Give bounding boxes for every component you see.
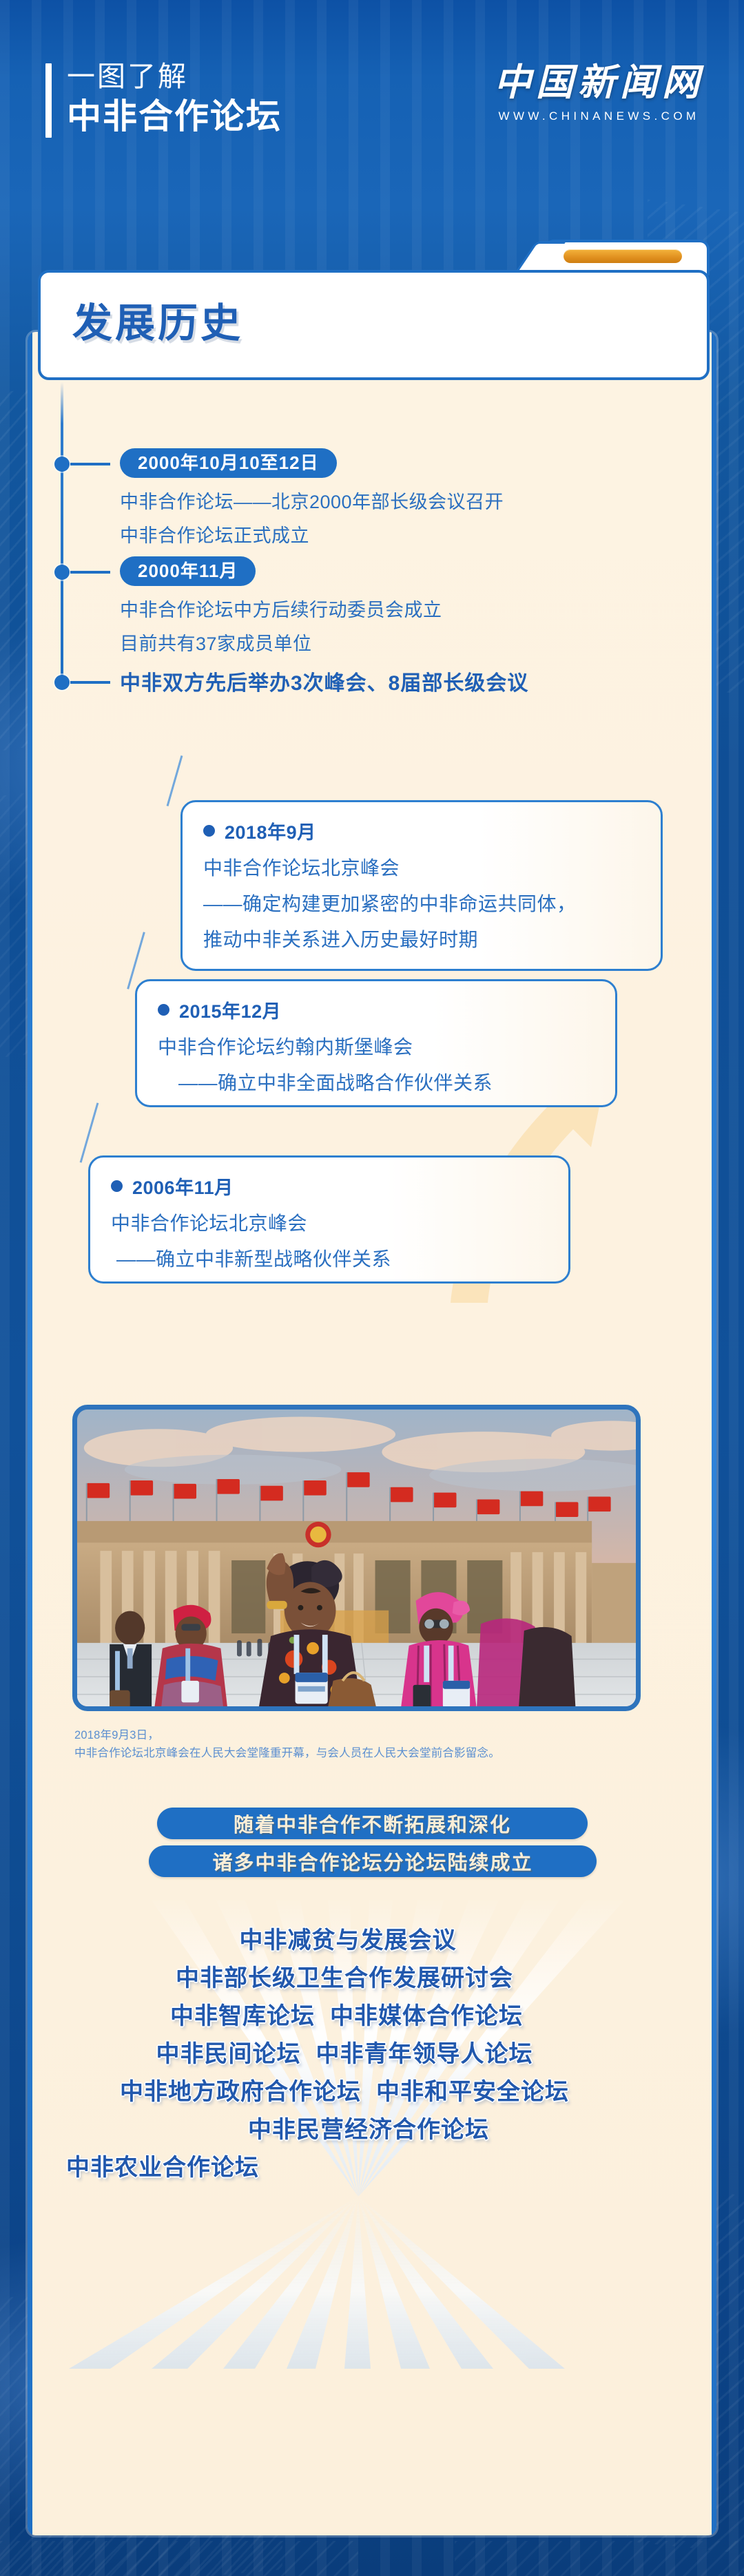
forum-name: 中非地方政府合作论坛	[120, 2073, 361, 2106]
section-title-card: 发展历史	[38, 270, 710, 380]
timeline-node	[54, 457, 70, 472]
forum-name: 中非民间论坛	[156, 2035, 301, 2069]
header-title-group: 一图了解 中非合作论坛	[45, 61, 282, 138]
summit-text: ——确立中非全面战略合作伙伴关系	[178, 1071, 615, 1095]
banner-2: 诸多中非合作论坛分论坛陆续成立	[149, 1845, 597, 1877]
summit-text: 中非合作论坛北京峰会	[111, 1212, 568, 1235]
summit-card-2006: 2006年11月 中非合作论坛北京峰会 ——确立中非新型战略伙伴关系	[88, 1155, 570, 1284]
summit-card-2015: 2015年12月 中非合作论坛约翰内斯堡峰会 ——确立中非全面战略合作伙伴关系	[135, 979, 617, 1107]
summit-date: 2015年12月	[179, 996, 281, 1023]
summit-text: ——确立中非新型战略伙伴关系	[116, 1248, 568, 1271]
timeline-connector	[70, 571, 110, 574]
summit-date: 2018年9月	[225, 817, 316, 844]
timeline-text: 中非合作论坛中方后续行动委员会成立	[120, 601, 442, 620]
forum-row: 中非智库论坛 中非媒体合作论坛	[0, 1997, 689, 2031]
timeline-node	[54, 565, 70, 580]
timeline-entry: 2000年10月10至12日 中非合作论坛——北京2000年部长级会议召开 中非…	[120, 448, 504, 545]
forum-row: 中非地方政府合作论坛 中非和平安全论坛	[0, 2073, 689, 2106]
timeline-highlight-text: 中非双方先后举办3次峰会、8届部长级会议	[120, 666, 528, 696]
timeline-text: 目前共有37家成员单位	[120, 635, 442, 653]
summit-text: 中非合作论坛北京峰会	[203, 857, 661, 880]
banner-2-text: 诸多中非合作论坛分论坛陆续成立	[212, 1847, 533, 1876]
forum-name: 中非农业合作论坛	[66, 2148, 259, 2182]
gold-accent-pill	[564, 249, 682, 263]
summit-card-2018: 2018年9月 中非合作论坛北京峰会 ——确定构建更加紧密的中非命运共同体， 推…	[180, 800, 663, 971]
timeline-date-badge: 2000年11月	[120, 556, 256, 586]
chinanews-logo: 中国新闻网 WWW.CHINANEWS.COM	[494, 63, 704, 123]
caption-line-2: 中非合作论坛北京峰会在人民大会堂隆重开幕，与会人员在人民大会堂前合影留念。	[74, 1745, 681, 1763]
forum-name: 中非青年领导人论坛	[316, 2035, 533, 2069]
summit-text: ——确定构建更加紧密的中非命运共同体，	[203, 892, 661, 916]
summit-text: 中非合作论坛约翰内斯堡峰会	[158, 1036, 615, 1059]
timeline-connector	[70, 463, 110, 465]
timeline-entry: 2000年11月 中非合作论坛中方后续行动委员会成立 目前共有37家成员单位	[120, 556, 442, 653]
summit-text: 推动中非关系进入历史最好时期	[203, 928, 661, 952]
bullet-dot-icon	[111, 1180, 123, 1192]
infographic-page: 一图了解 中非合作论坛 中国新闻网 WWW.CHINANEWS.COM 发展历史…	[0, 0, 744, 2576]
section-title: 发展历史	[72, 291, 243, 348]
bullet-dot-icon	[158, 1004, 169, 1016]
banner-1: 随着中非合作不断拓展和深化	[157, 1808, 588, 1839]
page-header: 一图了解 中非合作论坛 中国新闻网 WWW.CHINANEWS.COM	[0, 0, 744, 172]
timeline-node	[54, 675, 70, 690]
timeline-date-badge: 2000年10月10至12日	[120, 448, 337, 478]
forum-name: 中非部长级卫生合作发展研讨会	[176, 1959, 513, 1993]
footer-decoration	[0, 2541, 744, 2576]
page-title: 中非合作论坛	[67, 96, 282, 138]
forum-row: 中非部长级卫生合作发展研讨会	[0, 1959, 689, 1993]
forum-name-list: 中非减贫与发展会议 中非部长级卫生合作发展研讨会 中非智库论坛 中非媒体合作论坛…	[0, 1921, 689, 2186]
forum-row: 中非农业合作论坛	[66, 2148, 689, 2182]
header-kicker: 一图了解	[67, 61, 282, 93]
summit-date: 2006年11月	[132, 1173, 234, 1200]
photo-caption: 2018年9月3日， 中非合作论坛北京峰会在人民大会堂隆重开幕，与会人员在人民大…	[74, 1727, 681, 1762]
timeline-text: 中非合作论坛——北京2000年部长级会议召开	[120, 493, 504, 512]
timeline-axis	[61, 382, 63, 678]
bullet-dot-icon	[203, 825, 215, 837]
forum-row: 中非民营经济合作论坛	[0, 2111, 689, 2144]
summit-photo	[72, 1405, 641, 1711]
panel-right-rail	[712, 332, 716, 2535]
summit-photo-illustration	[77, 1410, 636, 1706]
forum-row: 中非民间论坛 中非青年领导人论坛	[0, 2035, 689, 2069]
banner-1-text: 随着中非合作不断拓展和深化	[234, 1809, 511, 1838]
timeline-text: 中非合作论坛正式成立	[120, 527, 504, 545]
timeline-connector	[70, 681, 110, 684]
timeline-entry-highlight: 中非双方先后举办3次峰会、8届部长级会议	[120, 666, 528, 696]
forum-name: 中非减贫与发展会议	[240, 1921, 457, 1955]
forum-name: 中非智库论坛	[170, 1997, 315, 2031]
forum-name: 中非和平安全论坛	[376, 2073, 569, 2106]
forum-name: 中非民营经济合作论坛	[248, 2111, 489, 2144]
logo-wordmark: 中国新闻网	[494, 63, 704, 101]
title-accent-bar	[45, 63, 52, 138]
forum-row: 中非减贫与发展会议	[0, 1921, 689, 1955]
forum-name: 中非媒体合作论坛	[330, 1997, 523, 2031]
logo-url: WWW.CHINANEWS.COM	[494, 109, 704, 123]
caption-line-1: 2018年9月3日，	[74, 1727, 681, 1745]
